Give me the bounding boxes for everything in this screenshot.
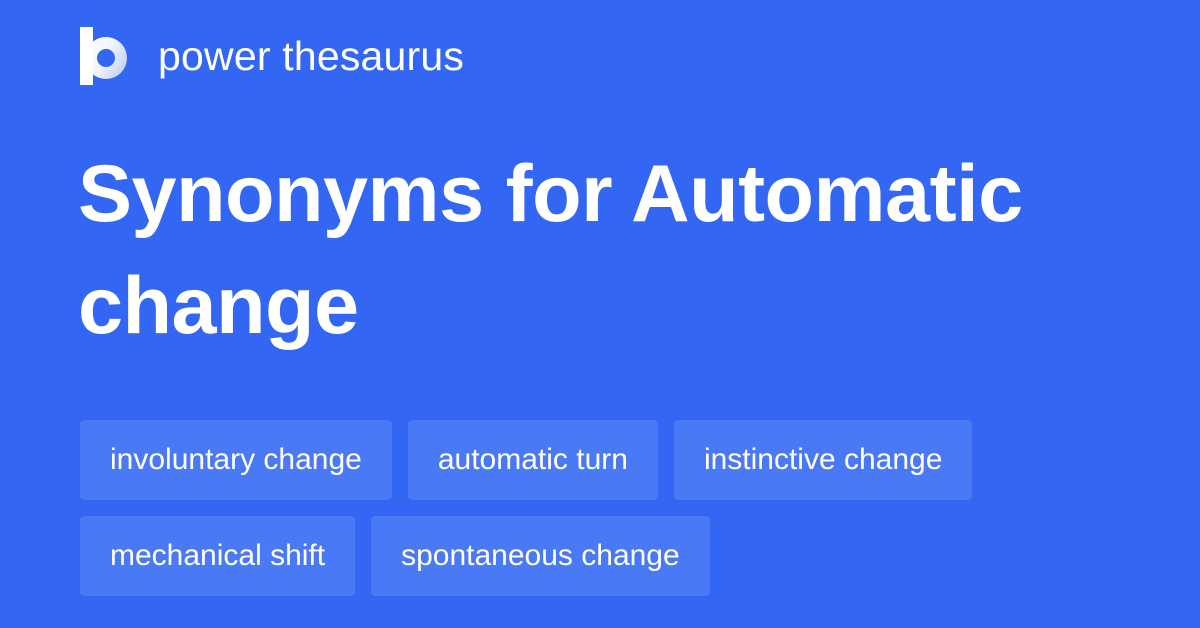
page-title: Synonyms for Automatic change (78, 138, 1078, 362)
brand-name: power thesaurus (158, 36, 464, 77)
share-card: power thesaurus Synonyms for Automatic c… (0, 0, 1200, 628)
synonym-chip-list: involuntary change automatic turn instin… (80, 420, 1130, 596)
synonym-chip[interactable]: instinctive change (674, 420, 972, 500)
synonym-chip[interactable]: mechanical shift (80, 516, 355, 596)
synonym-chip[interactable]: automatic turn (408, 420, 658, 500)
brand-logo[interactable]: power thesaurus (80, 25, 464, 87)
synonym-chip[interactable]: spontaneous change (371, 516, 710, 596)
power-thesaurus-b-logo-icon (80, 27, 134, 85)
synonym-chip[interactable]: involuntary change (80, 420, 392, 500)
